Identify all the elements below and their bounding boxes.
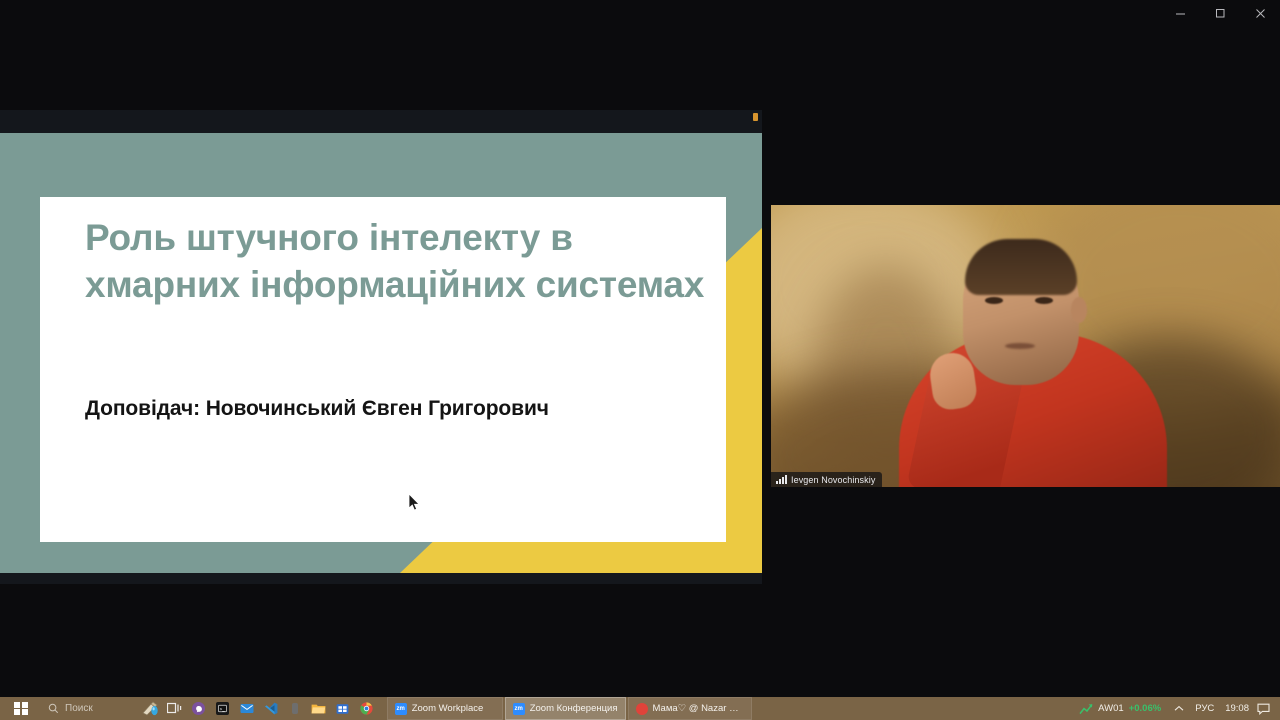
taskbar-button-label: Zoom Workplace <box>412 703 484 714</box>
stock-chart-icon <box>1079 703 1093 715</box>
task-view-icon[interactable] <box>163 697 187 720</box>
taskbar-button-telegram-chat[interactable]: Мама♡ @ Nazar Nv... <box>628 697 752 720</box>
close-button[interactable] <box>1240 0 1280 26</box>
zoom-meeting-window: Роль штучного інтелекту в хмарних інформ… <box>0 0 1280 697</box>
screen-share-indicator <box>753 113 758 121</box>
audio-level-icon <box>776 475 787 484</box>
participant-name-badge: Ievgen Novochinskiy <box>771 472 882 487</box>
windows-start-icon[interactable] <box>0 697 42 720</box>
slide-title: Роль штучного інтелекту в хмарних інформ… <box>85 215 705 308</box>
chevron-up-icon[interactable] <box>1168 704 1190 714</box>
participant-mouth <box>1005 343 1035 349</box>
terminal-icon[interactable]: >_ <box>211 697 235 720</box>
chat-avatar-icon <box>636 703 648 715</box>
slide-subtitle: Доповідач: Новочинський Євген Григорович <box>85 397 710 421</box>
paint-icon[interactable] <box>139 697 163 720</box>
participant-hair <box>965 239 1077 295</box>
window-titlebar <box>0 0 1280 26</box>
participant-eye <box>1035 297 1053 304</box>
stock-name: AW01 <box>1098 703 1124 714</box>
presentation-slide: Роль штучного інтелекту в хмарних інформ… <box>0 133 762 573</box>
store-icon[interactable] <box>331 697 355 720</box>
participant-eye <box>985 297 1003 304</box>
search-placeholder: Поиск <box>65 703 93 714</box>
file-explorer-icon[interactable] <box>307 697 331 720</box>
zoom-icon: zm <box>513 703 525 715</box>
participant-ear <box>1071 297 1087 323</box>
participant-name: Ievgen Novochinskiy <box>791 475 875 485</box>
taskbar-button-zoom-workplace[interactable]: zm Zoom Workplace <box>387 697 503 720</box>
notification-icon[interactable] <box>1255 703 1276 715</box>
search-icon <box>48 703 59 714</box>
search-input[interactable]: Поиск <box>42 697 103 720</box>
stock-widget[interactable]: AW01 +0.06% <box>1072 697 1168 720</box>
svg-text:>_: >_ <box>220 706 225 711</box>
vscode-icon[interactable] <box>259 697 283 720</box>
taskbar-button-zoom-conference[interactable]: zm Zoom Конференция <box>505 697 626 720</box>
taskbar-button-label: Zoom Конференция <box>530 703 618 714</box>
restore-button[interactable] <box>1200 0 1240 26</box>
language-indicator[interactable]: РУС <box>1190 703 1219 714</box>
placeholder-icon[interactable] <box>283 697 307 720</box>
taskbar-button-label: Мама♡ @ Nazar Nv... <box>653 703 744 714</box>
minimize-button[interactable] <box>1160 0 1200 26</box>
shared-screen-area: Роль штучного інтелекту в хмарних інформ… <box>0 110 762 584</box>
chrome-icon[interactable] <box>355 697 379 720</box>
participant-video-tile[interactable]: Ievgen Novochinskiy <box>771 205 1280 487</box>
start-glyph <box>14 702 28 716</box>
windows-taskbar: Поиск <box>0 697 1280 720</box>
mail-icon[interactable] <box>235 697 259 720</box>
slide-content-card: Роль штучного інтелекту в хмарних інформ… <box>40 197 726 542</box>
stock-change: +0.06% <box>1129 703 1162 714</box>
viber-icon[interactable] <box>187 697 211 720</box>
taskbar-clock[interactable]: 19:08 <box>1219 703 1255 714</box>
zoom-icon: zm <box>395 703 407 715</box>
